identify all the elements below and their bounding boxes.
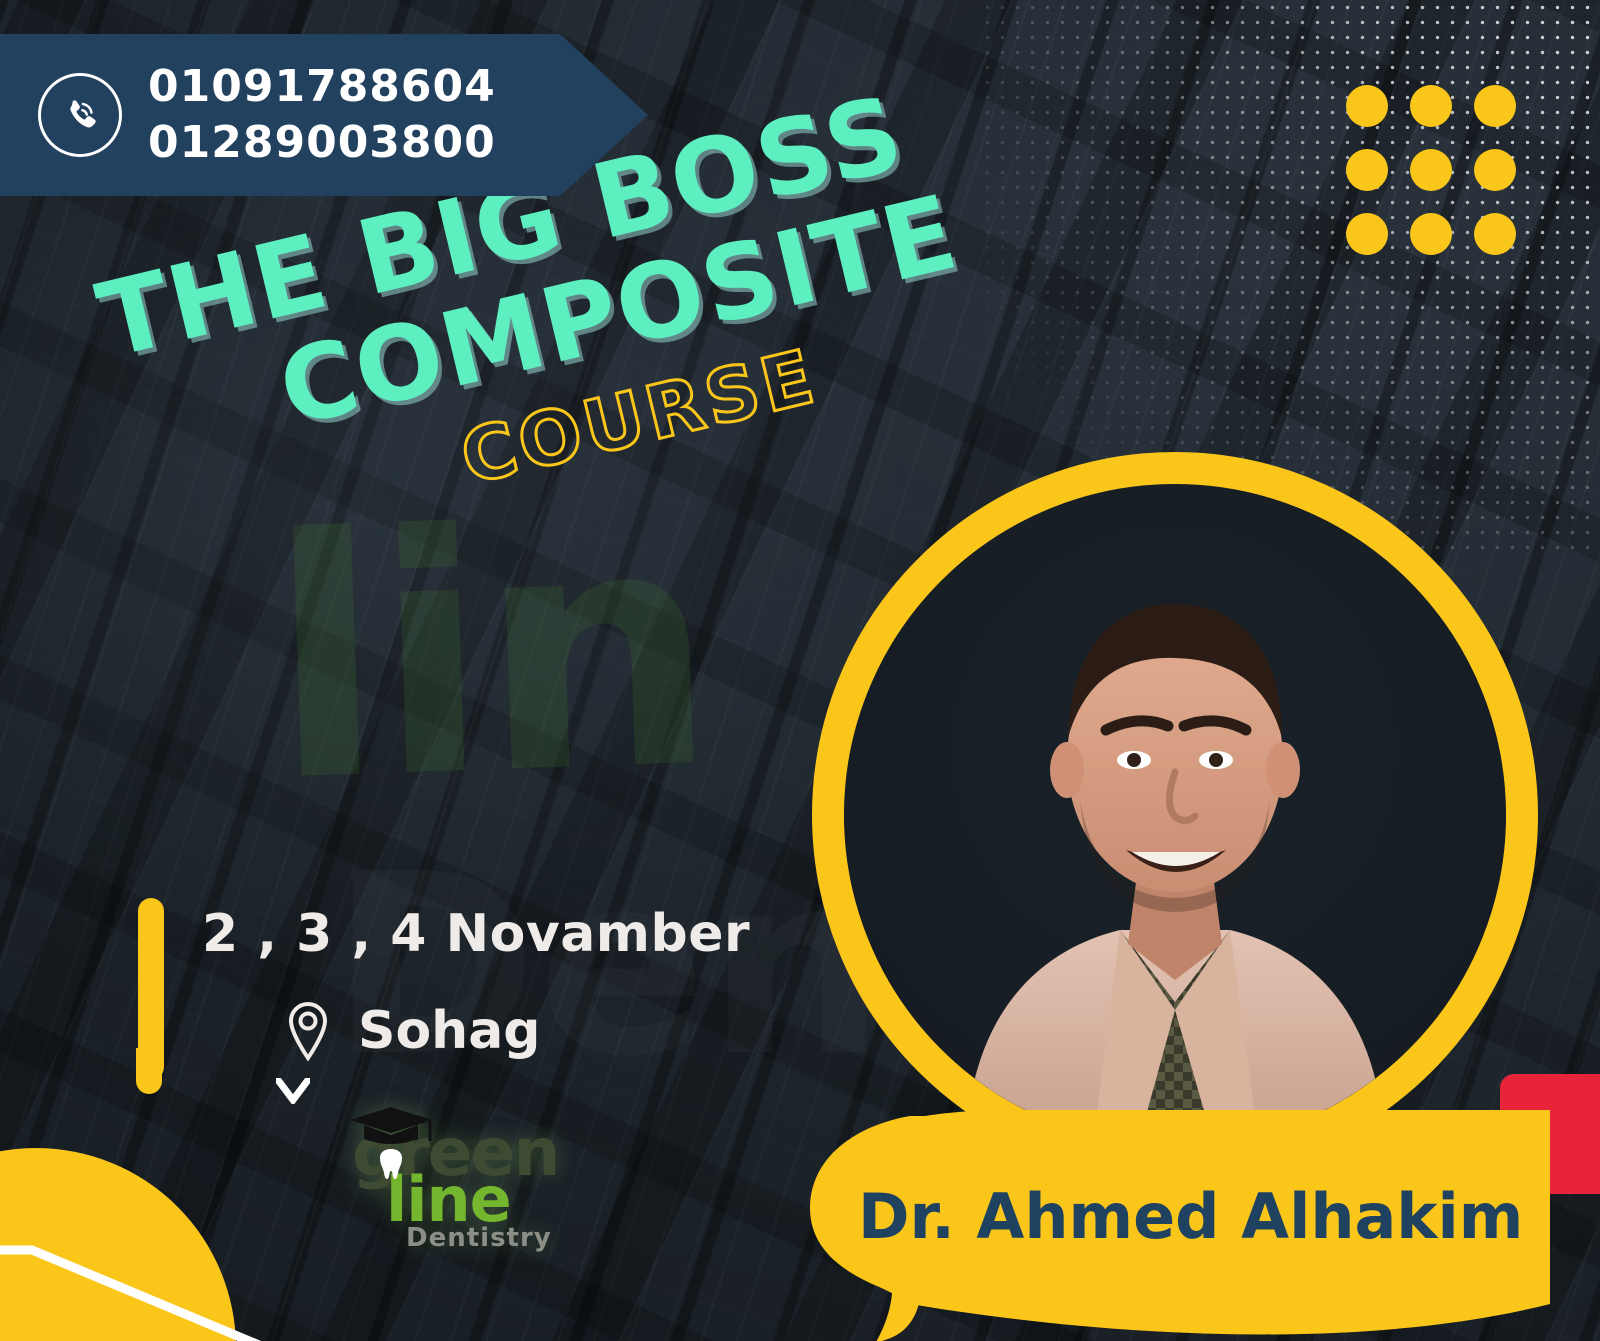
white-corner-line [0, 1240, 290, 1341]
event-info-block: 2 , 3 , 4 Novamber Sohag [138, 898, 750, 1080]
phone-numbers: 01091788604 01289003800 [148, 59, 496, 172]
grid-dot [1346, 85, 1388, 127]
contact-badge[interactable]: 01091788604 01289003800 [0, 34, 648, 196]
grid-dot [1410, 149, 1452, 191]
white-chevron-icon [276, 1078, 310, 1104]
yellow-mini-pill [136, 1048, 162, 1094]
poster-canvas: lin Den 01091788604 01289003800 THE BIG … [0, 0, 1600, 1341]
grid-dot [1474, 213, 1516, 255]
yellow-dot-grid [1346, 85, 1538, 277]
phone-primary[interactable]: 01091788604 [148, 59, 496, 115]
grid-dot [1346, 213, 1388, 255]
brand-logo-sub: Dentistry [406, 1223, 592, 1253]
grid-dot [1410, 85, 1452, 127]
portrait-frame [844, 484, 1506, 1146]
grid-dot [1410, 213, 1452, 255]
brand-logo[interactable]: green line Dentistry [352, 1125, 592, 1275]
event-date: 2 , 3 , 4 Novamber [202, 904, 750, 964]
map-pin-icon [282, 1000, 334, 1062]
grid-dot [1474, 85, 1516, 127]
event-location: Sohag [358, 1001, 541, 1061]
grid-dot [1474, 149, 1516, 191]
event-location-row: Sohag [282, 1000, 750, 1062]
portrait-ring [812, 452, 1538, 1178]
brand-logo-wordmark: green line Dentistry [352, 1125, 592, 1253]
phone-secondary[interactable]: 01289003800 [148, 115, 496, 171]
speaker-portrait [940, 532, 1410, 1146]
event-info-text: 2 , 3 , 4 Novamber Sohag [202, 898, 750, 1062]
brand-logo-line: line [386, 1174, 592, 1226]
grid-dot [1346, 149, 1388, 191]
tooth-icon [378, 1147, 404, 1181]
graduation-cap-icon [348, 1105, 434, 1149]
phone-call-icon [38, 73, 122, 157]
speaker-name-bubble: Dr. Ahmed Alhakim [790, 1108, 1550, 1341]
speaker-name: Dr. Ahmed Alhakim [858, 1180, 1523, 1253]
